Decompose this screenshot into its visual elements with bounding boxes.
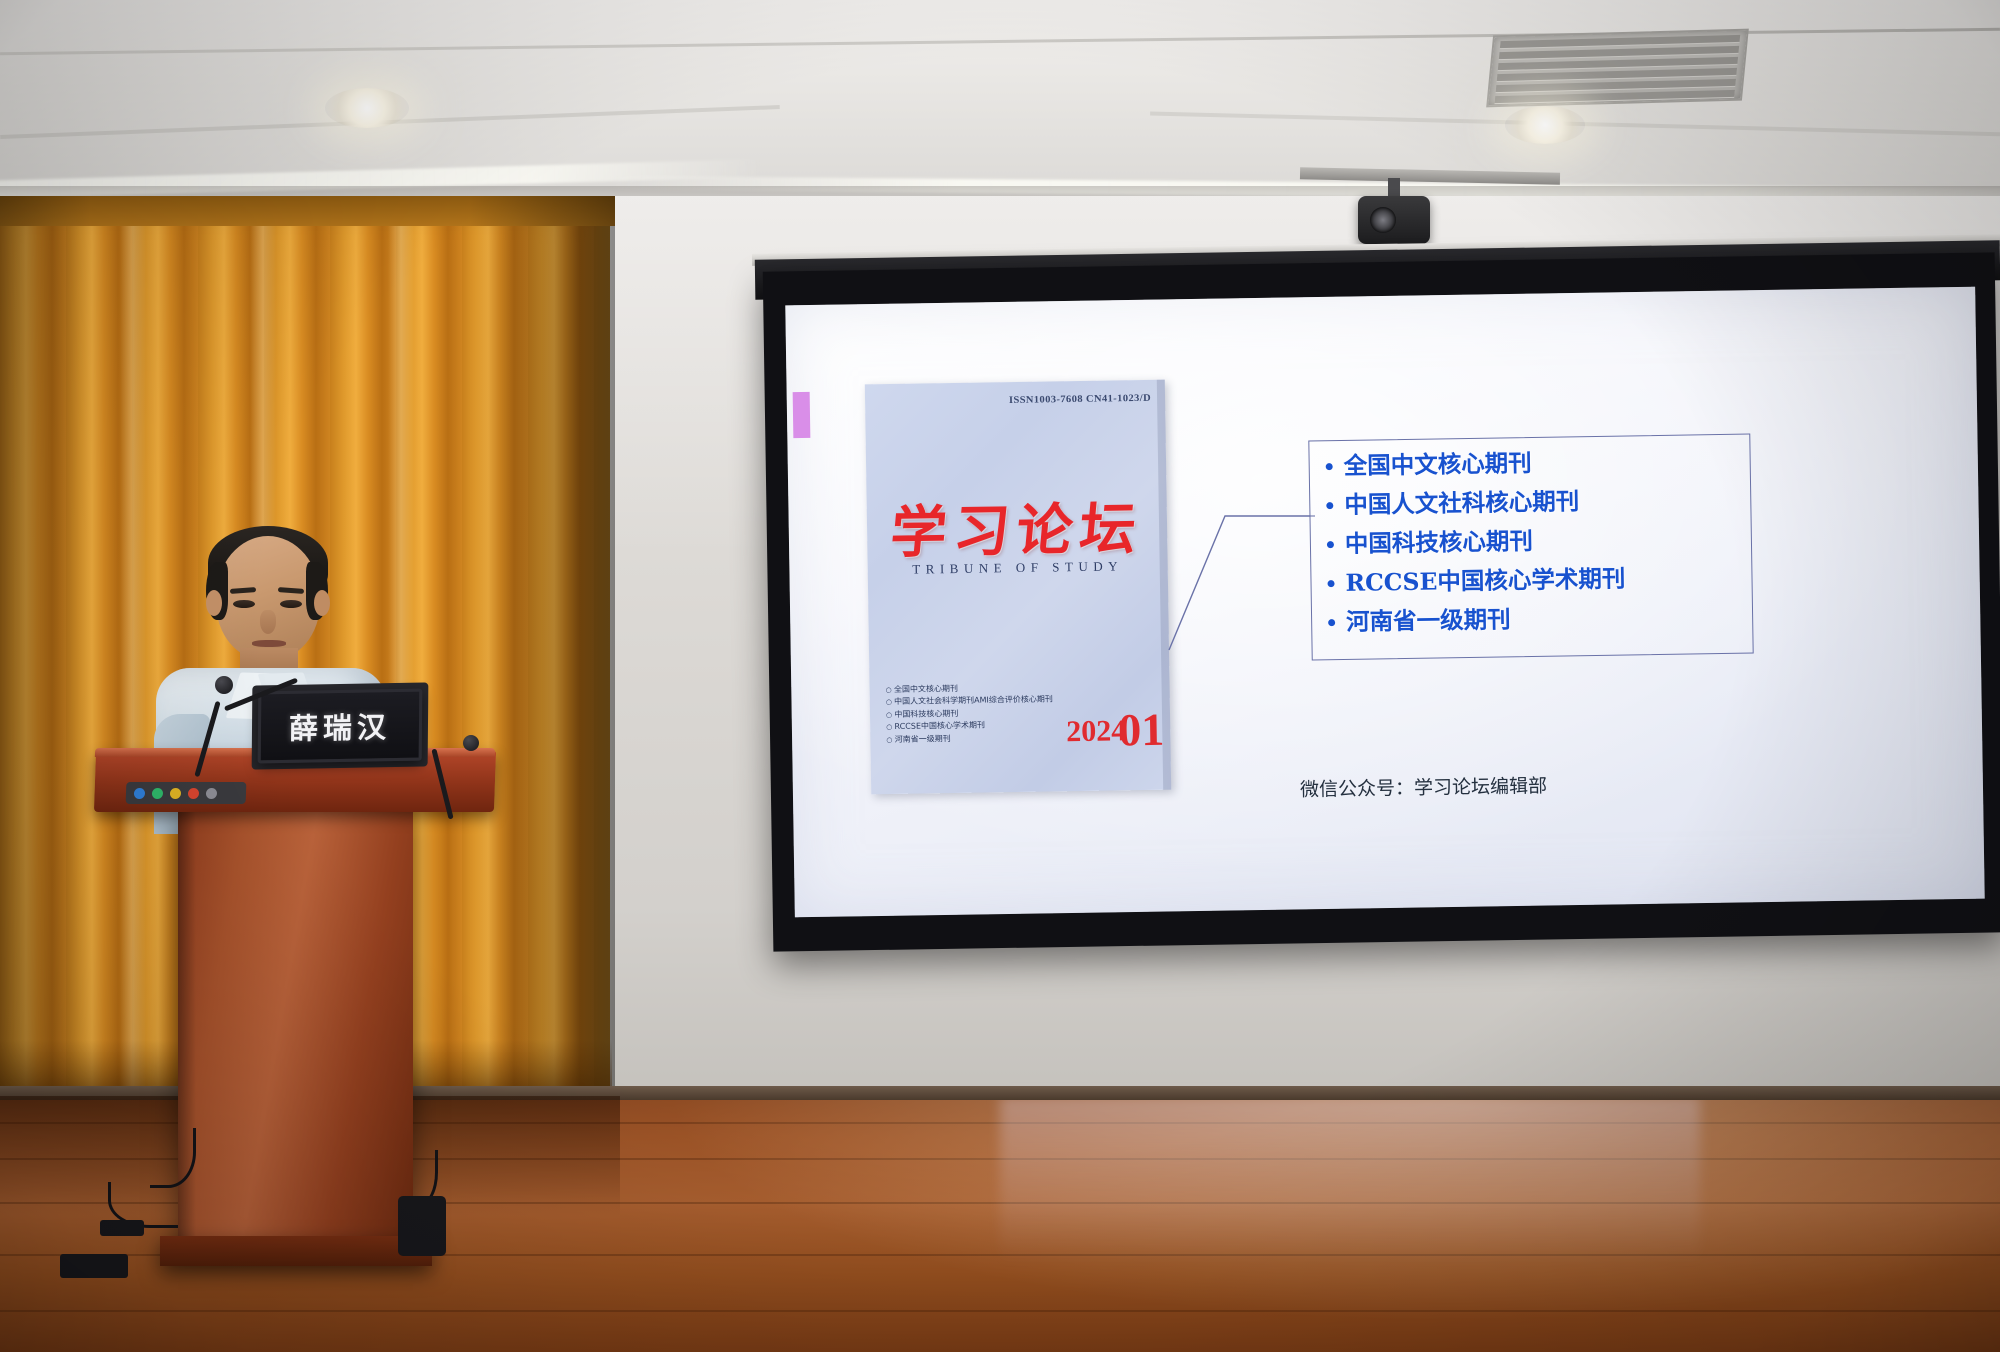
ear <box>314 590 330 616</box>
ceiling-downlight <box>325 88 409 128</box>
air-vent-icon <box>1486 29 1749 108</box>
list-item: 中国科技核心期刊 <box>1327 527 1745 557</box>
slide-callout-box: 全国中文核心期刊 中国人文社科核心期刊 中国科技核心期刊 RCCSE中国核心学术… <box>1308 434 1753 661</box>
callout-bullet-label: 河南省一级期刊 <box>1346 608 1511 634</box>
list-item: 中国人文社科核心期刊 <box>1326 488 1744 518</box>
speaker-nameplate: 薛瑞汉 <box>258 689 423 764</box>
journal-badge-list: 全国中文核心期刊 中国人文社会科学期刊AMI综合评价核心期刊 中国科技核心期刊 … <box>886 681 1054 746</box>
ceiling-downlight <box>1505 106 1585 144</box>
podium-control-panel[interactable] <box>126 782 247 804</box>
bullet-dot-icon <box>1326 463 1333 470</box>
list-item: 全国中文核心期刊 <box>1326 449 1744 479</box>
callout-bullet-list: 全国中文核心期刊 中国人文社科核心期刊 中国科技核心期刊 RCCSE中国核心学术… <box>1309 435 1752 635</box>
microphone-icon <box>463 735 479 751</box>
list-item: RCCSE中国核心学术期刊 <box>1327 566 1745 596</box>
microphone-icon <box>215 676 233 694</box>
bullet-dot-icon <box>1328 619 1335 626</box>
nose <box>260 610 276 634</box>
journal-issn-line: ISSN1003-7608 CN41-1023/D <box>1009 393 1151 406</box>
journal-title-en: TRIBUNE OF STUDY <box>868 558 1168 579</box>
ceiling-projector-icon <box>1358 196 1430 244</box>
callout-bullet-label: 中国人文社科核心期刊 <box>1344 490 1579 517</box>
callout-leader-line <box>1165 500 1315 658</box>
list-item: 河南省一级期刊 <box>1328 605 1746 635</box>
podium-base <box>160 1236 432 1266</box>
slide-wechat-footer: 微信公众号：学习论坛编辑部 <box>1300 771 1547 802</box>
journal-issue-number: 01 <box>1118 703 1165 757</box>
journal-badge: 中国人文社会科学期刊AMI综合评价核心期刊 <box>886 693 1053 708</box>
eye <box>233 600 255 608</box>
mouth <box>252 640 286 647</box>
callout-bullet-label: RCCSE中国核心学术期刊 <box>1345 568 1625 596</box>
journal-badge: 河南省一级期刊 <box>886 731 1053 746</box>
indicator-light-red[interactable] <box>188 788 199 799</box>
presentation-room-photo: ISSN1003-7608 CN41-1023/D 学习论坛 TRIBUNE O… <box>0 0 2000 1352</box>
indicator-light-blue[interactable] <box>134 788 145 799</box>
eye <box>280 600 302 608</box>
curtain-shadow <box>470 196 615 1096</box>
podium-body <box>178 806 413 1242</box>
nameplate-text: 薛瑞汉 <box>289 704 391 748</box>
curtain-fold-highlight <box>120 196 146 1096</box>
ear <box>206 590 222 616</box>
power-adapter <box>60 1254 128 1278</box>
cable-box <box>398 1196 446 1256</box>
journal-cover-image: ISSN1003-7608 CN41-1023/D 学习论坛 TRIBUNE O… <box>865 380 1171 795</box>
bullet-dot-icon <box>1326 502 1333 509</box>
indicator-light-yellow[interactable] <box>170 788 181 799</box>
bullet-dot-icon <box>1327 541 1334 548</box>
indicator-light-green[interactable] <box>152 788 163 799</box>
screen-floor-reflection <box>1000 1096 1700 1336</box>
bullet-dot-icon <box>1328 580 1335 587</box>
journal-title-cn: 学习论坛 <box>863 484 1170 570</box>
indicator-light-grey[interactable] <box>206 788 217 799</box>
curtain-shadow <box>0 196 90 1096</box>
slide-magenta-marker <box>793 392 811 438</box>
callout-bullet-label: 中国科技核心期刊 <box>1345 530 1533 556</box>
callout-bullet-label: 全国中文核心期刊 <box>1344 452 1532 478</box>
cable-connector <box>100 1220 144 1236</box>
